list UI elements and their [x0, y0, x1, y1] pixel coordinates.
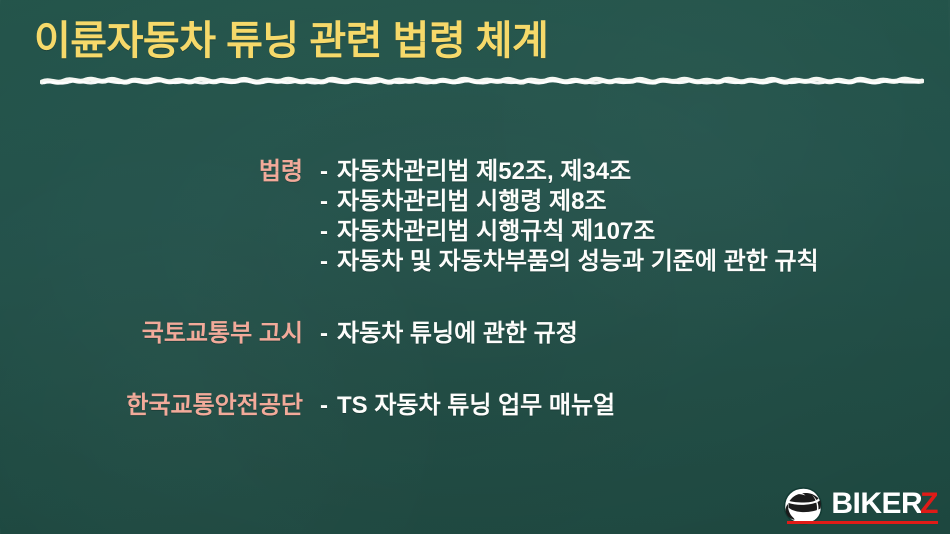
bullet-dash: -	[320, 319, 337, 349]
content-area: 법령 -자동차관리법 제52조, 제34조 -자동차관리법 시행령 제8조 -자…	[0, 0, 950, 534]
bikerz-logo: BIKERZ	[781, 486, 938, 526]
list-item-text: 자동차관리법 시행령 제8조	[337, 188, 607, 215]
list-item-text: 자동차 튜닝에 관한 규정	[337, 320, 578, 347]
bullet-dash: -	[320, 247, 337, 277]
list-item: -자동차 및 자동차부품의 성능과 기준에 관한 규칙	[320, 247, 819, 277]
list-item: -자동차관리법 시행령 제8조	[320, 187, 819, 217]
row-items: -TS 자동차 튜닝 업무 매뉴얼	[320, 391, 615, 421]
list-item: -자동차 튜닝에 관한 규정	[320, 319, 578, 349]
law-row-ministry-notice: 국토교통부 고시 -자동차 튜닝에 관한 규정	[105, 319, 578, 349]
bullet-dash: -	[320, 187, 337, 217]
bullet-dash: -	[320, 157, 337, 187]
slide-canvas: 이륜자동차 튜닝 관련 법령 체계 법령 -자동차관리법 제52조, 제34조 …	[0, 0, 950, 534]
row-items: -자동차관리법 제52조, 제34조 -자동차관리법 시행령 제8조 -자동차관…	[320, 157, 819, 277]
logo-text: BIKERZ	[831, 489, 938, 519]
row-label: 법령	[105, 157, 320, 187]
law-row-regulations: 법령 -자동차관리법 제52조, 제34조 -자동차관리법 시행령 제8조 -자…	[105, 157, 819, 277]
list-item: -TS 자동차 튜닝 업무 매뉴얼	[320, 391, 615, 421]
logo-text-accent: Z	[920, 487, 938, 520]
logo-wordmark: BIKERZ	[831, 489, 938, 524]
list-item-text: TS 자동차 튜닝 업무 매뉴얼	[337, 392, 615, 419]
law-row-ts-authority: 한국교통안전공단 -TS 자동차 튜닝 업무 매뉴얼	[105, 391, 615, 421]
list-item-text: 자동차관리법 시행규칙 제107조	[337, 218, 655, 245]
row-items: -자동차 튜닝에 관한 규정	[320, 319, 578, 349]
bullet-dash: -	[320, 217, 337, 247]
list-item: -자동차관리법 시행규칙 제107조	[320, 217, 819, 247]
row-label: 국토교통부 고시	[105, 319, 320, 349]
list-item-text: 자동차관리법 제52조, 제34조	[337, 158, 631, 185]
row-label: 한국교통안전공단	[105, 391, 320, 421]
bullet-dash: -	[320, 391, 337, 421]
list-item: -자동차관리법 제52조, 제34조	[320, 157, 819, 187]
list-item-text: 자동차 및 자동차부품의 성능과 기준에 관한 규칙	[337, 248, 819, 275]
logo-text-primary: BIKER	[831, 487, 922, 520]
logo-accent-bar	[787, 521, 938, 524]
